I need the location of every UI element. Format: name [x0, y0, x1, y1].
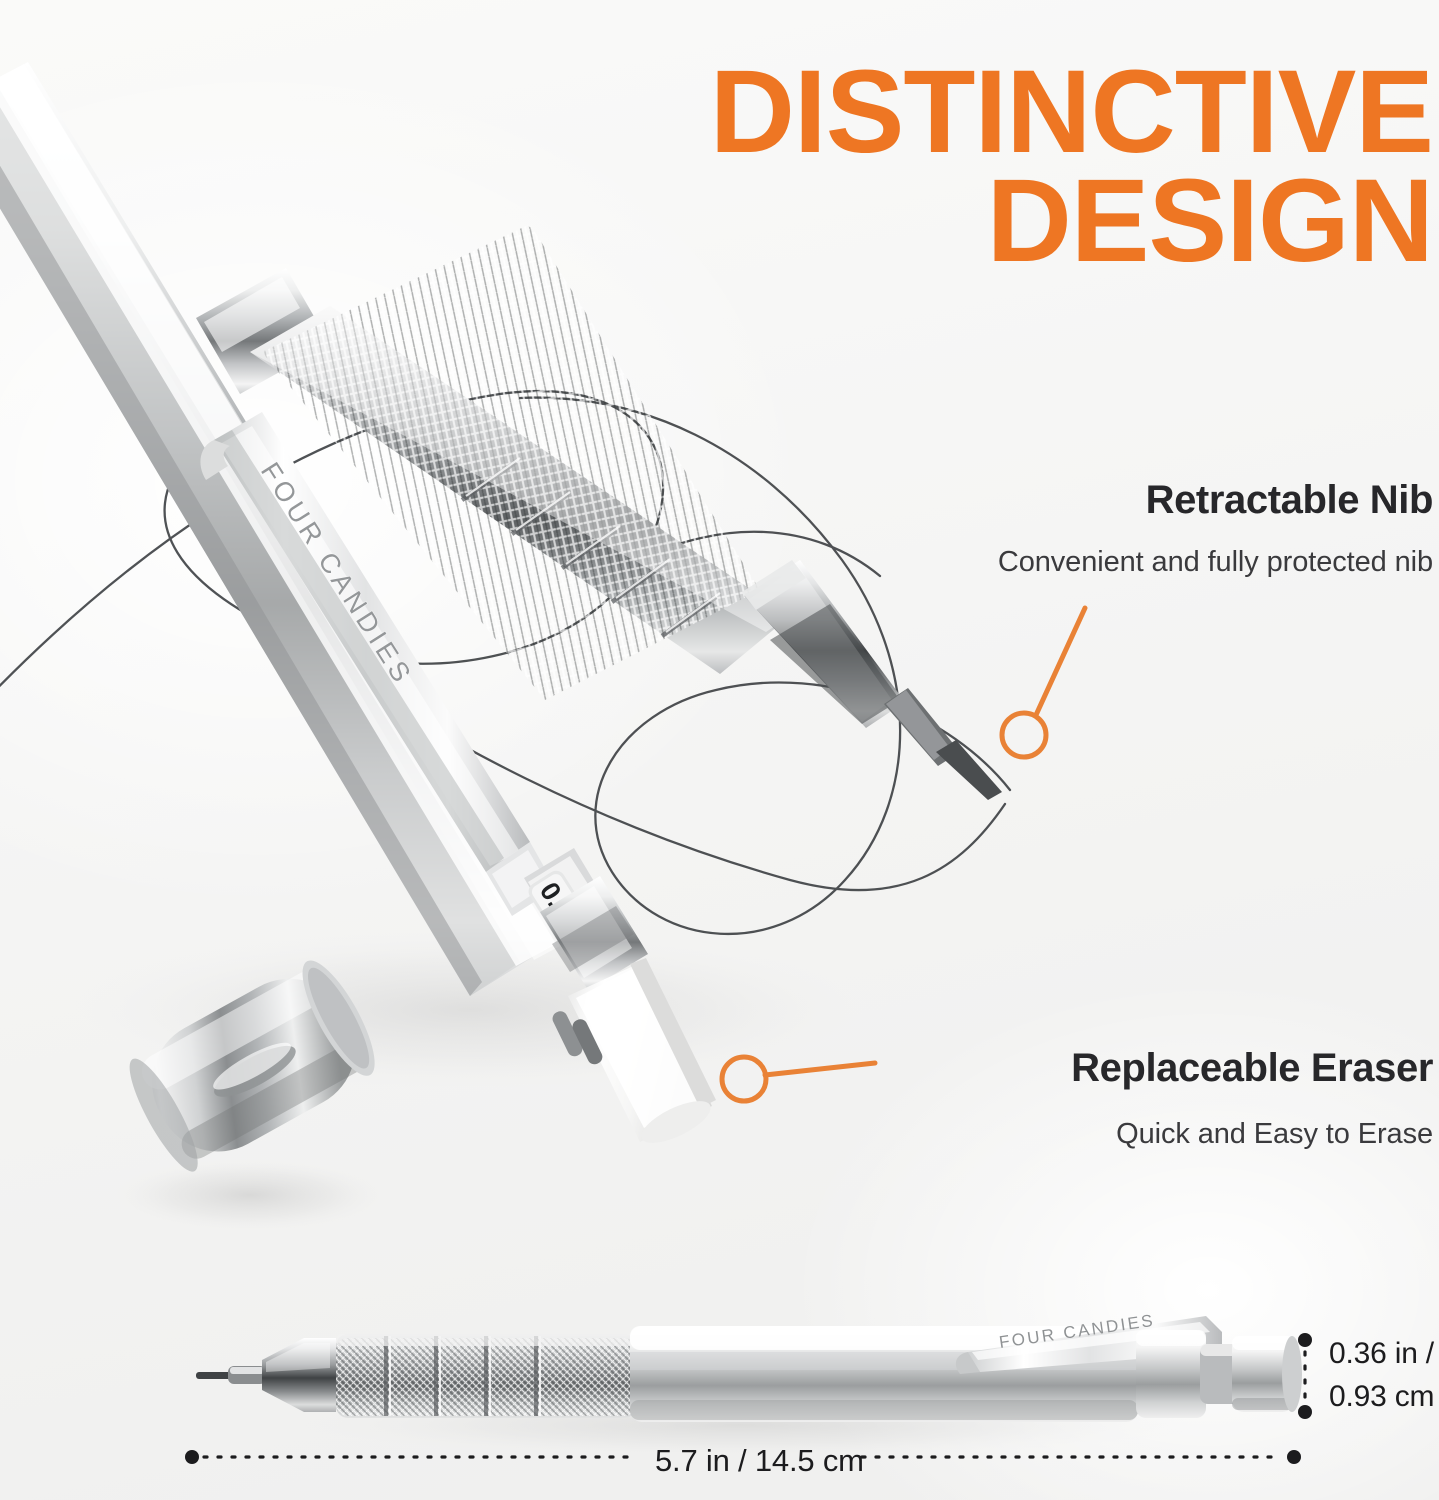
callout-title-replaceable-eraser: Replaceable Eraser	[1071, 1046, 1433, 1090]
product-infographic: FOUR CANDIES 0.7	[0, 0, 1439, 1500]
callout-title-retractable-nib: Retractable Nib	[998, 478, 1433, 522]
dimension-length-label: 5.7 in / 14.5 cm	[655, 1443, 864, 1479]
callout-subtitle-replaceable-eraser: Quick and Easy to Erase	[1071, 1116, 1433, 1152]
page-title-line2: DESIGN	[313, 167, 1433, 276]
page-title: DISTINCTIVE DESIGN	[313, 58, 1433, 275]
dimension-width-line2: 0.93 cm	[1329, 1376, 1434, 1419]
callout-subtitle-retractable-nib: Convenient and fully protected nib	[998, 544, 1433, 580]
callout-retractable-nib: Retractable Nib Convenient and fully pro…	[998, 478, 1433, 580]
dimension-width-line1: 0.36 in /	[1329, 1333, 1434, 1376]
dimension-width-label: 0.36 in / 0.93 cm	[1329, 1333, 1434, 1418]
callout-replaceable-eraser: Replaceable Eraser Quick and Easy to Era…	[1071, 1046, 1433, 1152]
